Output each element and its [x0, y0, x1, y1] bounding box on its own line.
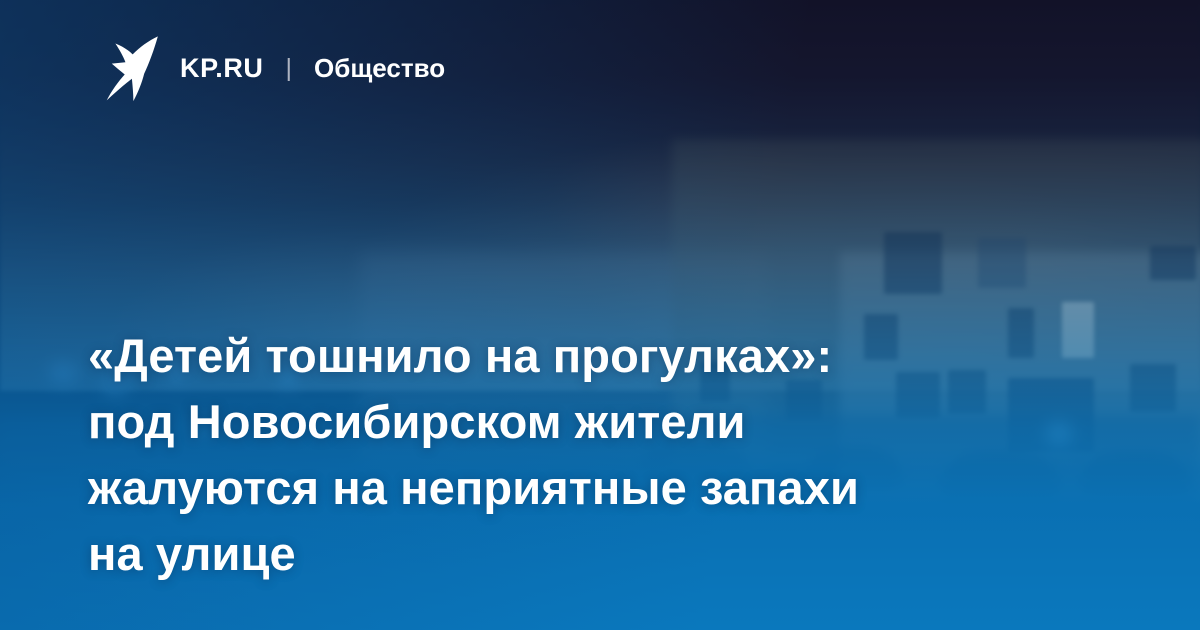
header-divider: |	[286, 54, 293, 83]
headline-line: «Детей тошнило на прогулках»:	[88, 323, 1048, 389]
headline-line: жалуются на неприятные запахи	[88, 455, 1048, 521]
page-title: «Детей тошнило на прогулках»: под Новоси…	[88, 323, 1048, 587]
headline-line: под Новосибирском жители	[88, 389, 1048, 455]
swallow-bird-logo-icon[interactable]	[88, 32, 160, 104]
rubric-label[interactable]: Общество	[314, 53, 445, 84]
card-header: KP.RU | Общество	[88, 32, 445, 104]
headline-line: на улице	[88, 521, 1048, 587]
kp-ru-article-card: KP.RU | Общество «Детей тошнило на прогу…	[0, 0, 1200, 630]
brand-wordmark[interactable]: KP.RU	[180, 53, 264, 84]
